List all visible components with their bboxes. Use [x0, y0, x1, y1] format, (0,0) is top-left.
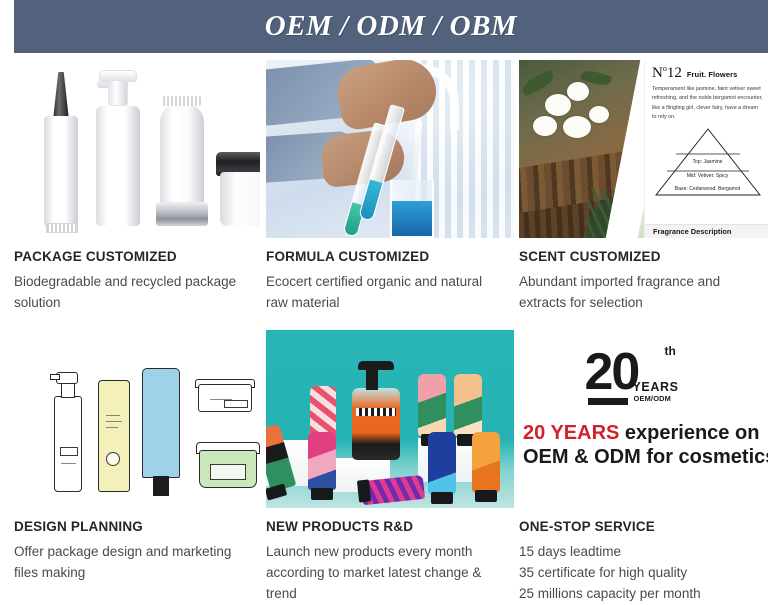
one-stop-service-text: ONE-STOP SERVICE 15 days leadtime 35 cer… — [519, 508, 768, 605]
tagline-line-2: OEM & ODM for cosmetics — [523, 446, 768, 470]
fragrance-card-header: No12 Fruit. Flowers — [652, 65, 763, 81]
anniversary-tagline: 20 YEARS experience on OEM & ODM for cos… — [519, 422, 768, 469]
scent-customized-text: SCENT CUSTOMIZED Abundant imported fragr… — [519, 238, 768, 314]
jasmine-flower — [563, 116, 591, 138]
fragrance-tag: Fruit. Flowers — [687, 65, 738, 79]
one-stop-service-image: 20 th YEARS OEM/ODM 20 YEARS experience … — [519, 330, 768, 508]
card-title: NEW PRODUCTS R&D — [266, 519, 514, 535]
product-cap — [357, 479, 371, 502]
design-planning-text: DESIGN PLANNING Offer package design and… — [14, 508, 260, 584]
card-one-stop-service[interactable]: 20 th YEARS OEM/ODM 20 YEARS experience … — [519, 330, 768, 605]
card-body-line: raw material — [266, 293, 514, 314]
card-formula-customized[interactable]: FORMULA CUSTOMIZED Ecocert certified org… — [266, 60, 514, 314]
product-tube — [472, 432, 500, 492]
sketch-tube-yellow — [98, 380, 130, 492]
anniversary-superscript: th — [665, 344, 676, 358]
sketch-label — [210, 464, 246, 480]
leaf-shape — [520, 70, 557, 97]
card-title: ONE-STOP SERVICE — [519, 519, 768, 535]
product-tube — [418, 374, 446, 436]
sketch-tube-blue — [142, 368, 180, 478]
card-title: FORMULA CUSTOMIZED — [266, 249, 514, 265]
fragrance-pyramid: Top: Jasmine Mid: Vetiver. Spicy Base: C… — [654, 127, 762, 197]
fragrance-description-card: No12 Fruit. Flowers Temperament like jas… — [644, 60, 768, 238]
card-title: SCENT CUSTOMIZED — [519, 249, 768, 265]
card-body-line: 25 millions capacity per month — [519, 584, 768, 605]
jasmine-flower — [589, 106, 609, 123]
card-body-line: files making — [14, 563, 260, 584]
card-body: Offer package design and marketing files… — [14, 542, 260, 584]
oem-odm-obm-page: OEM / ODM / OBM PACKAGE CUSTOMIZED Biode… — [0, 0, 782, 605]
card-body-line: extracts for selection — [519, 293, 768, 314]
card-body-line: 35 certificate for high quality — [519, 563, 768, 584]
pyramid-mid-note: Mid: Vetiver. Spicy — [654, 173, 762, 179]
card-title: PACKAGE CUSTOMIZED — [14, 249, 260, 265]
anniversary-subtitle: OEM/ODM — [634, 394, 672, 403]
product-cap — [431, 492, 453, 504]
bottle-pattern — [356, 408, 396, 416]
new-products-text: NEW PRODUCTS R&D Launch new products eve… — [266, 508, 514, 605]
card-body: Abundant imported fragrance and extracts… — [519, 272, 768, 314]
card-body: Ecocert certified organic and natural ra… — [266, 272, 514, 314]
tagline-line-1: 20 YEARS experience on — [523, 422, 768, 446]
sketch-scribble — [106, 427, 118, 428]
jar-shape — [220, 172, 260, 226]
card-package-customized[interactable]: PACKAGE CUSTOMIZED Biodegradable and rec… — [14, 60, 260, 314]
card-body-line: Offer package design and marketing — [14, 542, 260, 563]
fragrance-number: No12 — [652, 65, 682, 81]
product-tube — [428, 432, 456, 494]
fragrance-description-text: Temperament like jasmine, faint vetiver … — [652, 85, 763, 122]
jasmine-flower — [533, 116, 557, 136]
card-body: Biodegradable and recycled package solut… — [14, 272, 260, 314]
product-tube — [308, 432, 336, 490]
tagline-years-highlight: 20 YEARS — [523, 422, 619, 444]
card-body-line: trend — [266, 584, 514, 605]
pump-neck-shape — [108, 80, 128, 106]
product-cap — [311, 488, 333, 500]
page-title: OEM / ODM / OBM — [265, 10, 517, 43]
product-cap — [475, 490, 497, 502]
bottle-pump-head — [358, 361, 394, 370]
squeeze-tube-cap-shape — [156, 202, 208, 226]
card-body-line: Launch new products every month — [266, 542, 514, 563]
card-new-products-rd[interactable]: NEW PRODUCTS R&D Launch new products eve… — [266, 330, 514, 605]
jasmine-flower — [567, 82, 589, 101]
anniversary-years-label: YEARS — [633, 380, 679, 394]
sketch-spray-bottle — [54, 396, 82, 492]
fragrance-number-value: 12 — [667, 65, 682, 81]
new-products-image — [266, 330, 514, 508]
sketch-scribble — [106, 421, 122, 422]
package-customized-text: PACKAGE CUSTOMIZED Biodegradable and rec… — [14, 238, 260, 314]
pyramid-base-note: Base: Cedarwood. Bergamot — [654, 186, 762, 192]
sketch-label — [224, 400, 248, 408]
page-header-banner: OEM / ODM / OBM — [14, 0, 768, 53]
pyramid-top-note: Top: Jasmine — [654, 159, 762, 165]
sketch-spray-nozzle — [50, 374, 60, 380]
card-design-planning[interactable]: DESIGN PLANNING Offer package design and… — [14, 330, 260, 584]
beaker — [390, 180, 434, 238]
card-body-line: 15 days leadtime — [519, 542, 768, 563]
card-title: DESIGN PLANNING — [14, 519, 260, 535]
card-body-line: solution — [14, 293, 260, 314]
card-body: Launch new products every month accordin… — [266, 542, 514, 605]
package-customized-image — [14, 60, 260, 238]
squeeze-tube-shape — [160, 104, 204, 204]
formula-customized-image — [266, 60, 514, 238]
card-body: 15 days leadtime 35 certificate for high… — [519, 542, 768, 605]
sketch-tube-blue-cap — [153, 476, 169, 496]
anniversary-logo: 20 th YEARS OEM/ODM — [585, 346, 703, 408]
card-scent-customized[interactable]: No12 Fruit. Flowers Temperament like jas… — [519, 60, 768, 314]
anniversary-underbar — [588, 398, 628, 405]
card-body-line: Ecocert certified organic and natural — [266, 272, 514, 293]
sketch-badge — [106, 452, 120, 466]
tube-cap-shape — [53, 72, 69, 120]
product-tube — [454, 374, 482, 436]
fragrance-number-letter: N — [652, 65, 663, 81]
card-body-line: Biodegradable and recycled package — [14, 272, 260, 293]
jasmine-flower — [545, 94, 571, 116]
pump-bottle-product — [352, 388, 400, 460]
card-body-line: according to market latest change & — [266, 563, 514, 584]
fragrance-card-footer: Fragrance Description — [645, 224, 768, 238]
sketch-scribble — [106, 415, 120, 416]
formula-customized-text: FORMULA CUSTOMIZED Ecocert certified org… — [266, 238, 514, 314]
sketch-label — [60, 447, 78, 456]
design-planning-image — [14, 330, 260, 508]
pump-bottle-shape — [96, 106, 140, 226]
tagline-rest: experience on — [619, 422, 759, 444]
sketch-scribble — [61, 463, 76, 464]
card-body-line: Abundant imported fragrance and — [519, 272, 768, 293]
tube-shape — [44, 116, 78, 226]
scent-customized-image: No12 Fruit. Flowers Temperament like jas… — [519, 60, 768, 238]
sketch-spray-neck — [61, 382, 75, 398]
